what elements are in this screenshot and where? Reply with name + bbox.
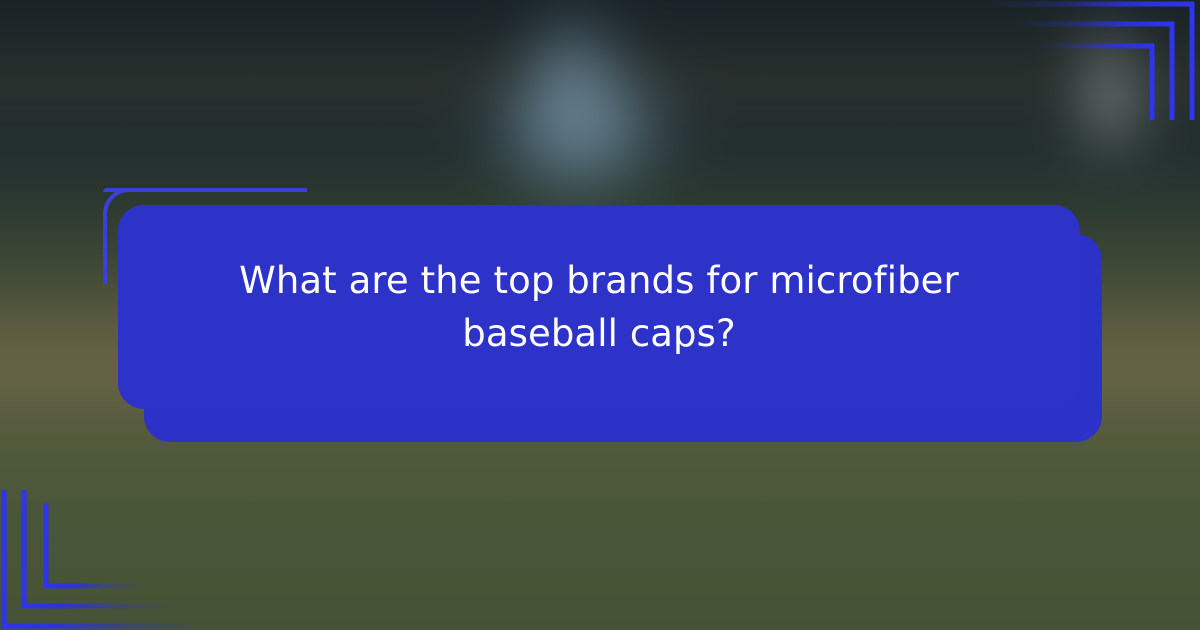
question-card: What are the top brands for microfiber b… xyxy=(118,205,1080,409)
question-card-stack: What are the top brands for microfiber b… xyxy=(100,186,1102,442)
question-text: What are the top brands for microfiber b… xyxy=(219,254,979,360)
social-share-card: What are the top brands for microfiber b… xyxy=(0,0,1200,630)
